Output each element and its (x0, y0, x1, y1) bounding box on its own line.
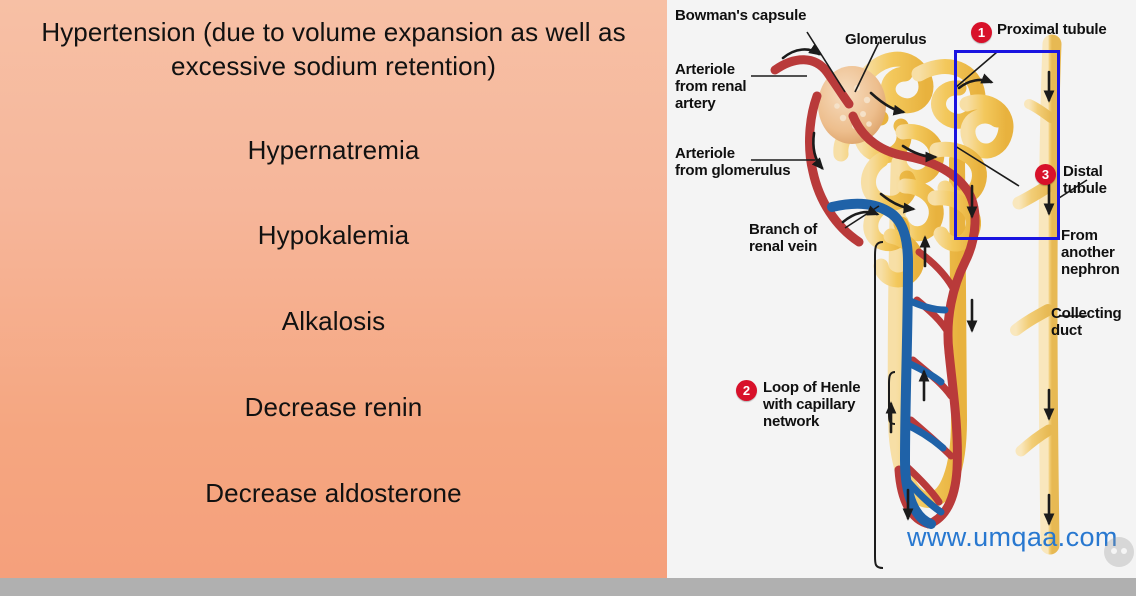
bullet-item-1: Hypernatremia (18, 134, 649, 168)
label-glomerulus: Glomerulus (845, 32, 926, 49)
label-from-another-nephron: From another nephron (1061, 228, 1120, 278)
label-branch-renal-vein: Branch of renal vein (749, 222, 817, 256)
nephron-diagram-panel: Bowman's capsule Glomerulus Arteriole fr… (667, 0, 1136, 578)
slide-canvas: Hypertension (due to volume expansion as… (0, 0, 1136, 596)
left-content-panel: Hypertension (due to volume expansion as… (0, 0, 667, 578)
label-distal-tubule: Distal tubule (1063, 164, 1107, 198)
bullet-item-2: Hypokalemia (18, 219, 649, 253)
bullet-item-3: Alkalosis (18, 305, 649, 339)
label-bowmans-capsule: Bowman's capsule (675, 8, 806, 25)
bottom-status-bar (0, 578, 1136, 596)
highlight-rectangle (954, 50, 1060, 240)
bullet-item-0: Hypertension (due to volume expansion as… (18, 16, 649, 84)
bullet-list: Hypertension (due to volume expansion as… (0, 0, 667, 578)
label-collecting-duct: Collecting duct (1051, 306, 1122, 340)
bullet-item-4: Decrease renin (18, 391, 649, 425)
label-arteriole-from-glomerulus: Arteriole from glomerulus (675, 146, 790, 180)
label-proximal-tubule: Proximal tubule (997, 22, 1107, 39)
bullet-item-5: Decrease aldosterone (18, 477, 649, 511)
label-loop-of-henle: Loop of Henle with capillary network (763, 380, 860, 430)
watermark-url: www.umqaa.com (907, 522, 1118, 553)
marker-2-loop-of-henle: 2 (736, 380, 757, 401)
corner-logo-watermark-icon (1104, 537, 1134, 567)
marker-1-proximal-tubule: 1 (971, 22, 992, 43)
label-arteriole-renal-artery: Arteriole from renal artery (675, 62, 746, 112)
